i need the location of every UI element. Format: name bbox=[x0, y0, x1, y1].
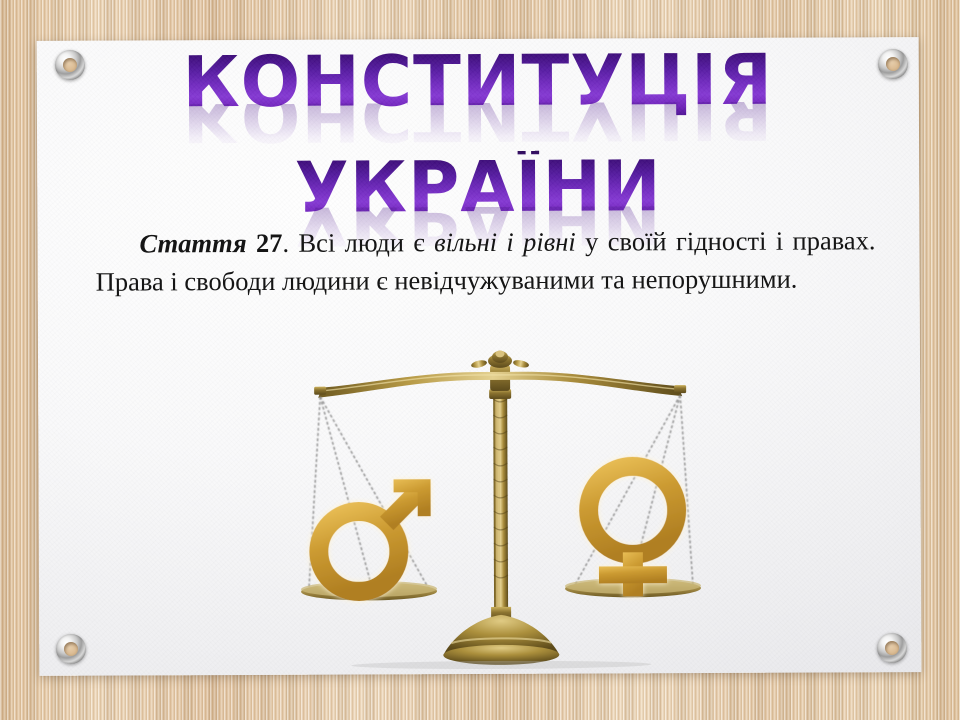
white-presentation-board: КОНСТИТУЦІЯ КОНСТИТУЦІЯ УКРАЇНИ УКРАЇНИ … bbox=[37, 37, 922, 676]
scale-base bbox=[443, 607, 559, 666]
grommet-top-left bbox=[55, 50, 85, 80]
grommet-bottom-left bbox=[56, 634, 86, 664]
male-symbol bbox=[319, 479, 431, 591]
balance-scales-illustration bbox=[300, 338, 701, 676]
female-symbol bbox=[588, 466, 677, 596]
article-label: Стаття bbox=[139, 228, 246, 258]
article-number: 27 bbox=[256, 228, 283, 258]
scale-column bbox=[489, 365, 512, 617]
article-emphasis: вільні і рівні bbox=[434, 227, 576, 258]
article-text: Стаття 27. Всі люди є вільні і рівні у с… bbox=[95, 221, 875, 300]
article-text-part-1: . Всі люди є bbox=[282, 227, 434, 258]
grommet-bottom-right bbox=[877, 633, 907, 663]
grommet-top-right bbox=[878, 49, 908, 79]
slide-canvas: КОНСТИТУЦІЯ КОНСТИТУЦІЯ УКРАЇНИ УКРАЇНИ … bbox=[0, 0, 960, 720]
scale-finial bbox=[470, 350, 529, 369]
